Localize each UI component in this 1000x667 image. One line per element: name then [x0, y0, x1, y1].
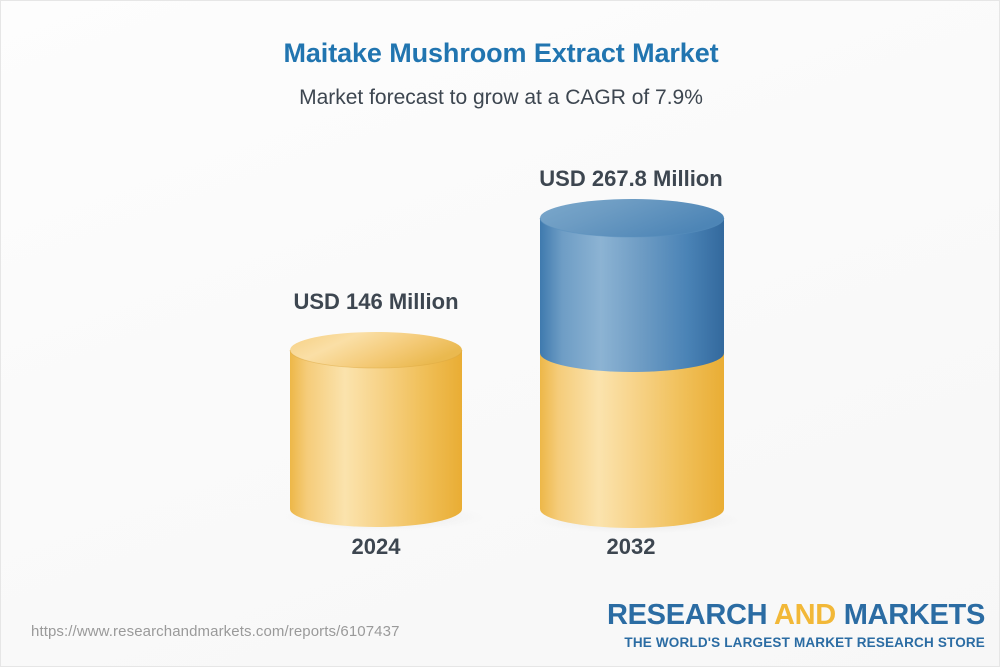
plot-area: USD 146 Million USD 267.8 Million: [1, 1, 1000, 601]
logo-word-markets: MARKETS: [844, 599, 985, 631]
report-url[interactable]: https://www.researchandmarkets.com/repor…: [31, 623, 400, 640]
logo-wordmark: RESEARCH AND MARKETS: [607, 601, 985, 630]
brand-logo[interactable]: RESEARCH AND MARKETS THE WORLD'S LARGEST…: [607, 601, 985, 650]
bar-2024[interactable]: [283, 332, 483, 531]
chart-frame: Maitake Mushroom Extract Market Market f…: [0, 0, 1000, 667]
bar-2032[interactable]: [532, 199, 744, 534]
logo-word-research: RESEARCH: [607, 599, 774, 631]
bar-body-2024: [290, 350, 462, 527]
logo-word-and: AND: [774, 599, 844, 631]
bar-segment-base-2032: [540, 353, 724, 528]
logo-tagline: THE WORLD'S LARGEST MARKET RESEARCH STOR…: [607, 635, 985, 650]
bars-svg: [1, 1, 1000, 601]
bar-segment-growth-2032: [540, 218, 724, 372]
category-label-2032: 2032: [471, 534, 791, 560]
